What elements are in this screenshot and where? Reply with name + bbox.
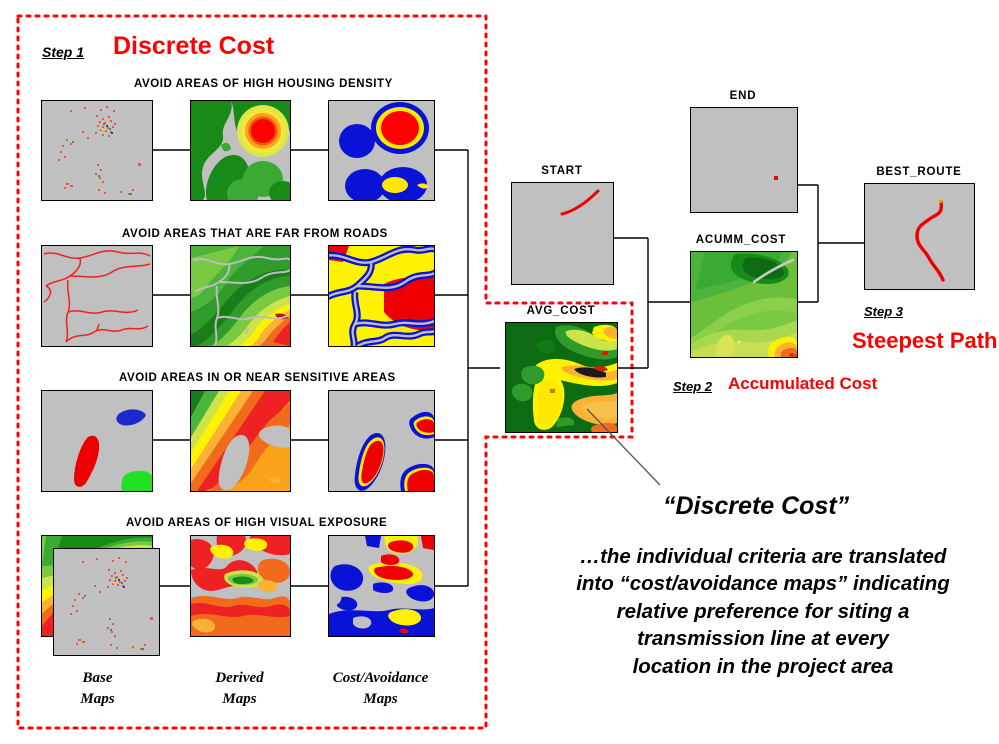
- callout-body-line-5: location in the project area: [533, 653, 993, 680]
- map-best-route: [864, 183, 975, 290]
- map-label-end: END: [690, 90, 796, 102]
- diagram-canvas: Step 1 Discrete Cost AVOID AREAS OF HIGH…: [0, 0, 999, 744]
- map-base-roads: [41, 245, 153, 347]
- map-end: [690, 107, 798, 213]
- callout-body-line-3: relative preference for siting a: [533, 598, 993, 625]
- row-title-roads: AVOID AREAS THAT ARE FAR FROM ROADS: [122, 228, 388, 240]
- row-title-housing-density: AVOID AREAS OF HIGH HOUSING DENSITY: [134, 78, 393, 90]
- column-label-cost-maps-line1: Cost/Avoidance: [318, 668, 443, 689]
- step2-heading: Accumulated Cost: [728, 374, 877, 394]
- map-cost-visual: [328, 535, 435, 637]
- column-label-cost-maps-line2: Maps: [318, 689, 443, 710]
- step1-label: Step 1: [42, 44, 84, 60]
- map-label-acumm-cost: ACUMM_COST: [686, 234, 796, 246]
- map-cost-sensitive: [328, 390, 435, 492]
- callout-body-line-2: into “cost/avoidance maps” indicating: [533, 570, 993, 597]
- callout-body-line-1: …the individual criteria are translated: [533, 543, 993, 570]
- step3-label: Step 3: [864, 304, 903, 319]
- map-label-avg-cost: AVG_COST: [505, 305, 617, 317]
- map-cost-housing: [328, 100, 435, 201]
- column-label-derived-maps: Derived Maps: [192, 668, 287, 711]
- callout-body: …the individual criteria are translated …: [533, 543, 993, 680]
- map-cost-roads: [328, 245, 435, 347]
- map-label-best-route: BEST_ROUTE: [864, 166, 974, 178]
- row-title-sensitive: AVOID AREAS IN OR NEAR SENSITIVE AREAS: [119, 372, 396, 384]
- row-title-visual-exposure: AVOID AREAS OF HIGH VISUAL EXPOSURE: [126, 517, 387, 529]
- step1-heading: Discrete Cost: [113, 32, 274, 61]
- map-label-start: START: [511, 165, 613, 177]
- map-derived-sensitive: [190, 390, 291, 492]
- map-derived-roads: [190, 245, 291, 347]
- map-base-visual: [53, 548, 160, 656]
- map-derived-housing: [190, 100, 291, 201]
- map-avg-cost: [505, 322, 618, 433]
- column-label-base-maps-line2: Maps: [50, 689, 145, 710]
- column-label-base-maps-line1: Base: [50, 668, 145, 689]
- column-label-base-maps: Base Maps: [50, 668, 145, 711]
- map-start: [511, 182, 614, 285]
- map-base-housing: [41, 100, 153, 201]
- column-label-cost-maps: Cost/Avoidance Maps: [318, 668, 443, 711]
- map-derived-visual: [190, 535, 291, 637]
- column-label-derived-maps-line2: Maps: [192, 689, 287, 710]
- callout-title: “Discrete Cost”: [663, 492, 849, 521]
- map-base-sensitive: [41, 390, 153, 492]
- callout-body-line-4: transmission line at every: [533, 625, 993, 652]
- map-acumm-cost: [690, 251, 798, 358]
- column-label-derived-maps-line1: Derived: [192, 668, 287, 689]
- step2-label: Step 2: [673, 379, 712, 394]
- step3-heading: Steepest Path: [852, 328, 998, 354]
